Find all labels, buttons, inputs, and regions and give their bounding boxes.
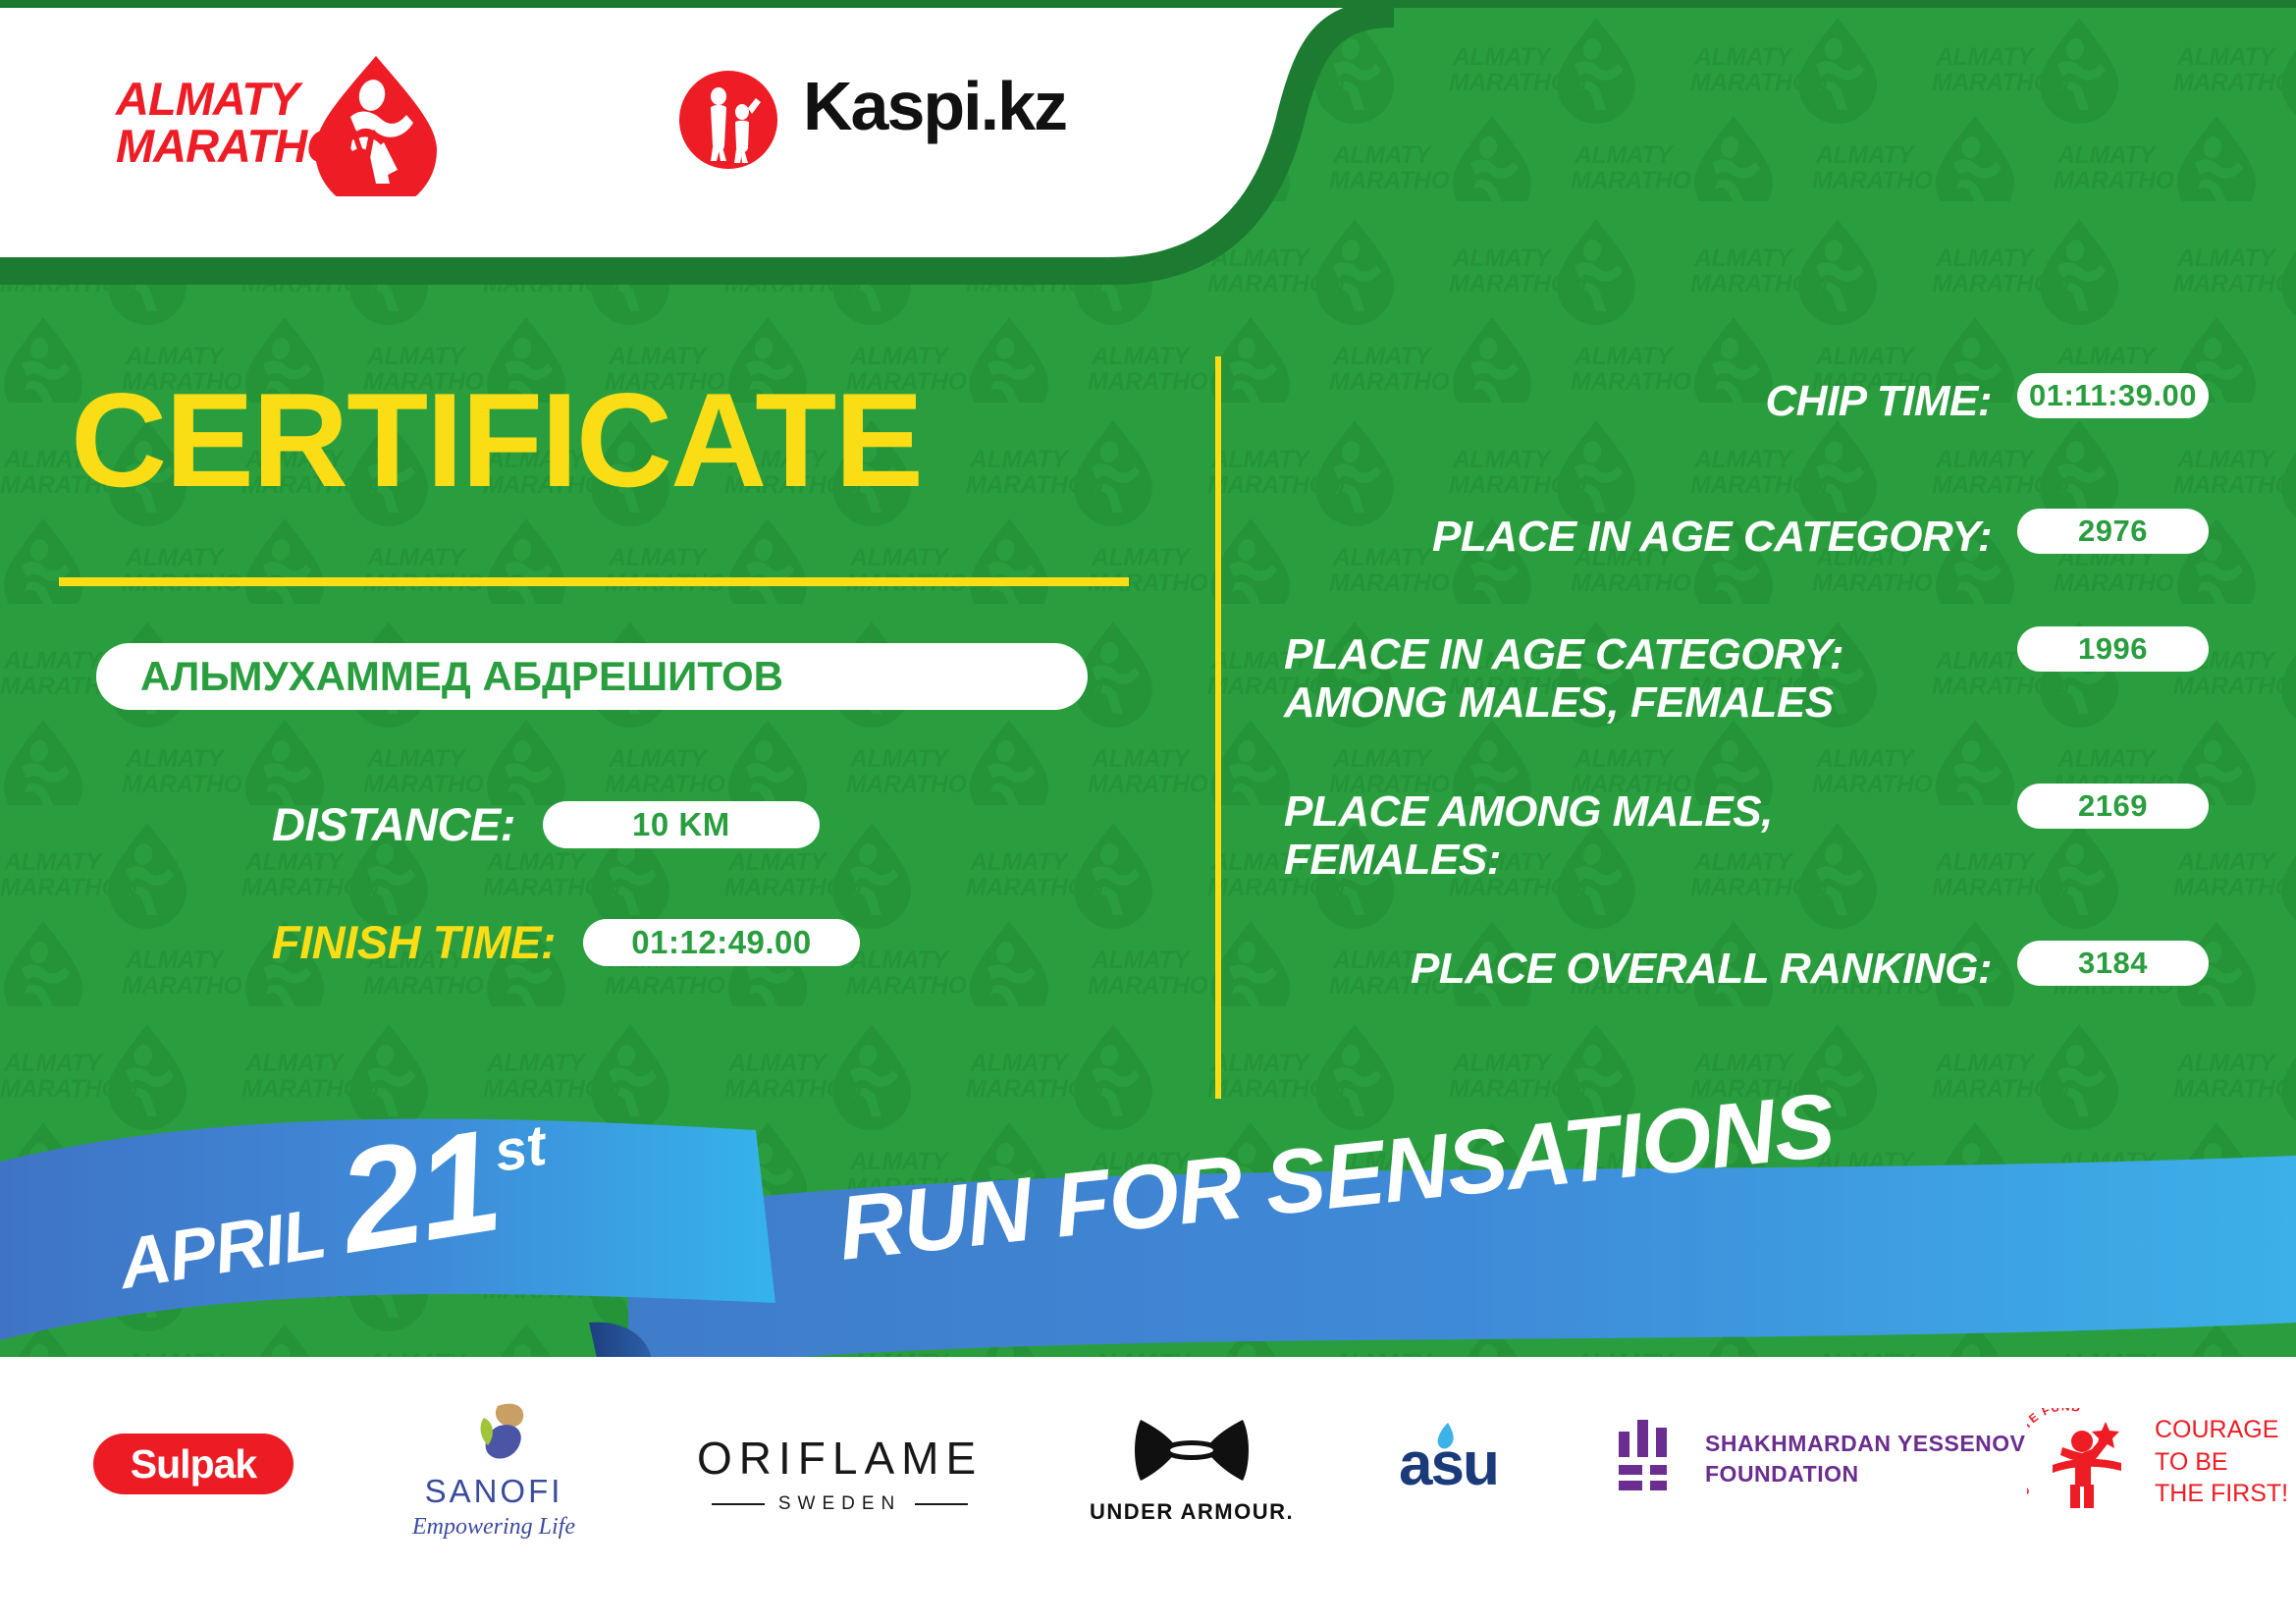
sulpak-name: Sulpak — [131, 1441, 256, 1488]
distance-label: DISTANCE: — [272, 797, 515, 851]
oriflame-sub: SWEDEN — [778, 1493, 901, 1515]
sponsor-under-armour: UNDER ARMOUR. — [1090, 1416, 1294, 1525]
distance-value-pill: 10 KM — [543, 801, 820, 848]
distance-value: 10 KM — [632, 806, 730, 843]
sanofi-tagline: Empowering Life — [412, 1514, 575, 1541]
stat-row: PLACE OVERALL RANKING: 3184 — [1266, 941, 2209, 993]
courage-line1: COURAGE — [2155, 1414, 2288, 1446]
under-armour-icon — [1131, 1416, 1253, 1492]
stat-value: 2169 — [2078, 788, 2148, 824]
courage-line3: THE FIRST! — [2155, 1478, 2288, 1510]
participant-name-field: АЛЬМУХАММЕД АБДРЕШИТОВ — [96, 643, 1088, 710]
event-month: APRIL — [114, 1193, 331, 1305]
kaspi-logo: Kaspi.kz — [677, 61, 1090, 179]
distance-row: DISTANCE: 10 KM — [272, 797, 820, 851]
event-day: 21 — [329, 1098, 508, 1287]
stat-label-line1: PLACE AMONG MALES, — [1284, 787, 1992, 836]
stat-row: PLACE IN AGE CATEGORY: AMONG MALES, FEMA… — [1266, 626, 2209, 728]
header-top-stripe — [0, 0, 2296, 8]
sponsor-sanofi: SANOFI Empowering Life — [412, 1400, 575, 1541]
yessenov-line1: SHAKHMARDAN YESSENOV — [1705, 1429, 2026, 1459]
stat-value-pill: 01:11:39.00 — [2017, 373, 2209, 418]
sponsor-courage-fund: CORPORATE FUND COURAGE TO BE THE FIRST! — [2027, 1408, 2288, 1516]
column-divider — [1215, 356, 1221, 1099]
oriflame-sub-row: SWEDEN — [712, 1493, 968, 1515]
kaspi-wordmark: Kaspi.kz — [803, 67, 1066, 145]
certificate-canvas: ALMATY MARATHON Kaspi.kz CERTIFICATE АЛЬ… — [0, 0, 2296, 1624]
stat-label: PLACE AMONG MALES, FEMALES: — [1266, 784, 2017, 885]
stat-label: PLACE IN AGE CATEGORY: AMONG MALES, FEMA… — [1266, 626, 2017, 728]
almaty-marathon-wordmark: ALMATY MARATHON — [116, 76, 374, 170]
stat-value-pill: 2169 — [2017, 784, 2209, 829]
finish-time-value-pill: 01:12:49.00 — [583, 919, 860, 966]
stat-row: PLACE AMONG MALES, FEMALES: 2169 — [1266, 784, 2209, 885]
stat-label-line2: AMONG MALES, FEMALES — [1284, 678, 1992, 727]
stat-value-pill: 3184 — [2017, 941, 2209, 986]
sponsor-yessenov: SHAKHMARDAN YESSENOV FOUNDATION — [1615, 1418, 2026, 1500]
oriflame-rule-left — [712, 1503, 765, 1505]
stat-label: CHIP TIME: — [1266, 373, 2017, 425]
sponsor-logos: Sulpak SANOFI Empowering Life ORIFLAME S… — [0, 1394, 2296, 1591]
title-divider-rule — [59, 577, 1129, 586]
courage-fund-name: COURAGE TO BE THE FIRST! — [2155, 1414, 2288, 1510]
stat-label-line1: PLACE IN AGE CATEGORY: — [1284, 630, 1992, 678]
stat-value: 2976 — [2078, 514, 2148, 549]
yessenov-name: SHAKHMARDAN YESSENOV FOUNDATION — [1705, 1429, 2026, 1489]
under-armour-name: UNDER ARMOUR. — [1090, 1499, 1294, 1525]
stat-row: CHIP TIME: 01:11:39.00 — [1266, 373, 2209, 425]
sanofi-name: SANOFI — [425, 1473, 563, 1510]
sanofi-leaf-icon — [454, 1400, 533, 1469]
stat-label: PLACE OVERALL RANKING: — [1266, 941, 2017, 993]
runner-finish-icon: CORPORATE FUND — [2027, 1408, 2141, 1516]
marathon-logo-line2: MARATHON — [116, 123, 374, 170]
yessenov-bars-icon — [1615, 1418, 1683, 1500]
finish-time-value: 01:12:49.00 — [631, 924, 811, 961]
participant-name-value: АЛЬМУХАММЕД АБДРЕШИТОВ — [140, 653, 783, 700]
oriflame-rule-right — [915, 1503, 968, 1505]
asu-drop-icon — [1430, 1421, 1460, 1462]
stat-value-pill: 2976 — [2017, 509, 2209, 554]
stat-label: PLACE IN AGE CATEGORY: — [1266, 509, 2017, 561]
almaty-marathon-logo: ALMATY MARATHON — [116, 54, 440, 191]
event-day-suffix: st — [490, 1112, 550, 1185]
stat-value: 1996 — [2078, 631, 2148, 667]
courage-line2: TO BE — [2155, 1446, 2288, 1479]
sponsor-asu: asu — [1369, 1430, 1498, 1499]
stat-row: PLACE IN AGE CATEGORY: 2976 — [1266, 509, 2209, 561]
finish-time-row: FINISH TIME: 01:12:49.00 — [272, 915, 860, 969]
stat-label-line2: FEMALES: — [1284, 836, 1992, 884]
kaspi-people-icon — [677, 69, 779, 171]
stat-value-pill: 1996 — [2017, 626, 2209, 672]
sulpak-logo: Sulpak — [93, 1434, 294, 1494]
sponsor-oriflame: ORIFLAME SWEDEN — [697, 1432, 983, 1515]
marathon-logo-line1: ALMATY — [116, 76, 374, 123]
stat-value: 3184 — [2078, 946, 2148, 981]
sponsor-sulpak: Sulpak — [93, 1434, 294, 1494]
stat-value: 01:11:39.00 — [2029, 378, 2197, 413]
oriflame-name: ORIFLAME — [697, 1432, 983, 1485]
page-title: CERTIFICATE — [71, 373, 922, 507]
yessenov-line2: FOUNDATION — [1705, 1459, 2026, 1489]
finish-time-label: FINISH TIME: — [272, 915, 556, 969]
